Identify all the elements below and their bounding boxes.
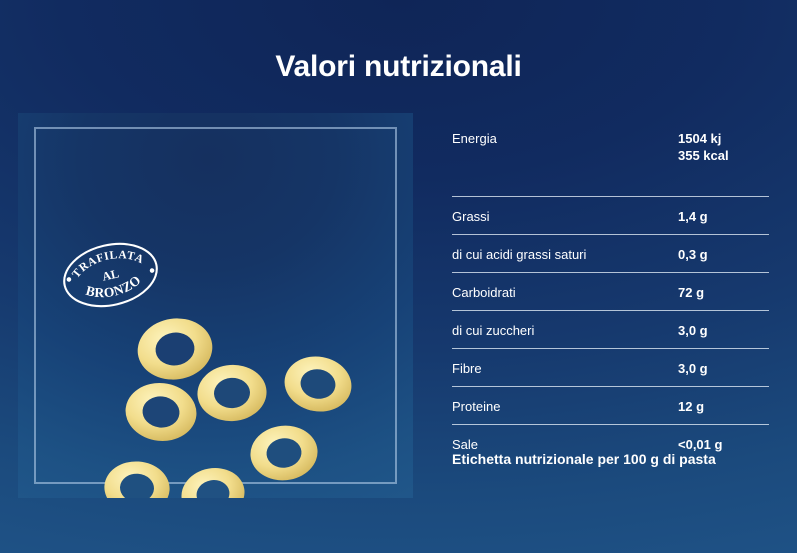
nutrient-label: Fibre <box>452 360 678 377</box>
table-row: Fibre 3,0 g <box>452 349 769 387</box>
nutrition-table-footer: Etichetta nutrizionale per 100 g di past… <box>452 450 716 468</box>
table-row: Carboidrati 72 g <box>452 273 769 311</box>
badge-line-middle: AL <box>101 266 120 283</box>
trafilata-al-bronzo-badge: TRAFILATA AL BRONZO <box>53 229 168 322</box>
pasta-ring <box>101 457 173 498</box>
table-row: Proteine 12 g <box>452 387 769 425</box>
table-row: Grassi 1,4 g <box>452 197 769 235</box>
nutrient-value: 72 g <box>678 284 704 301</box>
nutrient-value: 0,3 g <box>678 246 708 263</box>
nutrient-value-secondary: 355 kcal <box>678 147 729 164</box>
nutrient-label: Energia <box>452 130 678 147</box>
nutrient-label: di cui zuccheri <box>452 322 678 339</box>
nutrient-value: 3,0 g <box>678 360 708 377</box>
table-row: di cui acidi grassi saturi 0,3 g <box>452 235 769 273</box>
nutrition-table: Energia 1504 kj 355 kcal Grassi 1,4 g di… <box>452 122 769 461</box>
nutrient-label: Proteine <box>452 398 678 415</box>
table-row: Energia 1504 kj 355 kcal <box>452 122 769 197</box>
table-row: di cui zuccheri 3,0 g <box>452 311 769 349</box>
nutrient-label: di cui acidi grassi saturi <box>452 246 678 263</box>
page-title: Valori nutrizionali <box>0 52 797 82</box>
pasta-ring <box>175 460 250 498</box>
nutrient-value: 3,0 g <box>678 322 708 339</box>
pasta-ring <box>278 347 358 420</box>
nutrient-value: 1504 kj 355 kcal <box>678 130 729 164</box>
nutrient-value-primary: 1504 kj <box>678 131 721 146</box>
pasta-ring <box>194 361 270 426</box>
pasta-ring <box>246 420 322 487</box>
nutrient-value: 1,4 g <box>678 208 708 225</box>
product-image-panel: TRAFILATA AL BRONZO <box>18 113 413 498</box>
nutrient-value: 12 g <box>678 398 704 415</box>
page-background: Valori nutrizionali TRAFILATA AL BRONZO <box>0 0 797 553</box>
pasta-ring <box>121 377 201 446</box>
nutrient-label: Carboidrati <box>452 284 678 301</box>
nutrient-label: Grassi <box>452 208 678 225</box>
